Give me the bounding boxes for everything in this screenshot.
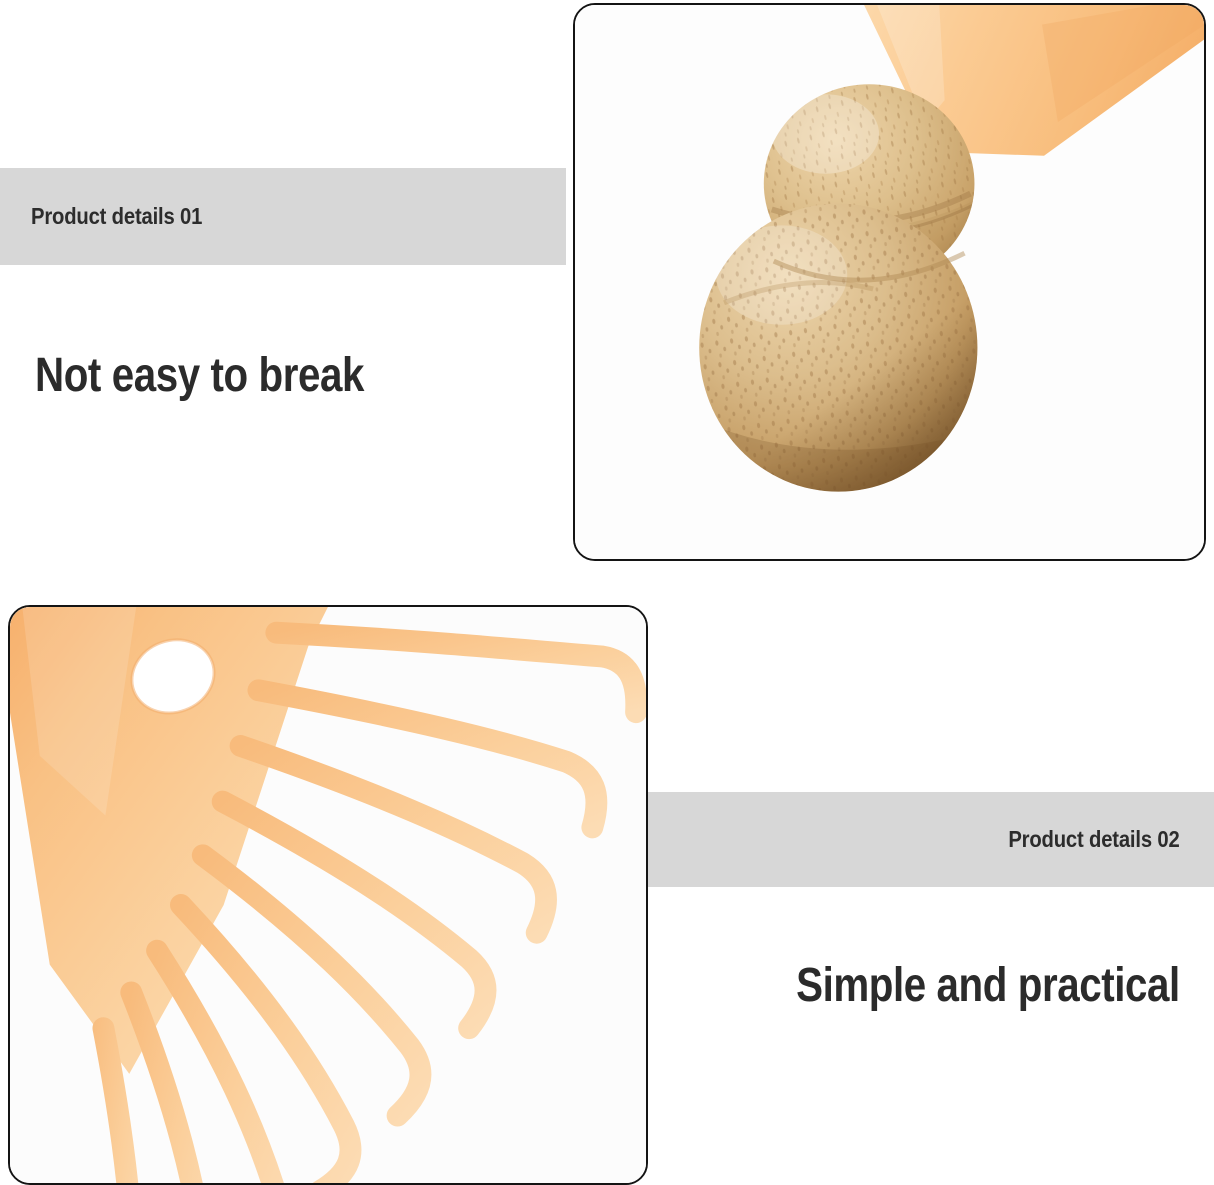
- photo-stage-01: [575, 5, 1204, 559]
- section-label-band-01: Product details 01: [0, 168, 566, 265]
- section-label-02: Product details 02: [1009, 826, 1180, 853]
- section-label-01: Product details 01: [31, 203, 202, 230]
- photo-stage-02: [10, 607, 646, 1183]
- wooden-massage-ball-illustration: [575, 5, 1204, 559]
- plastic-fan-tines-illustration: [10, 607, 646, 1183]
- section-headline-01: Not easy to break: [35, 348, 364, 403]
- section-headline-02: Simple and practical: [796, 958, 1180, 1013]
- product-photo-panel-01: [573, 3, 1206, 561]
- section-label-band-02: Product details 02: [648, 792, 1214, 887]
- product-photo-panel-02: [8, 605, 648, 1185]
